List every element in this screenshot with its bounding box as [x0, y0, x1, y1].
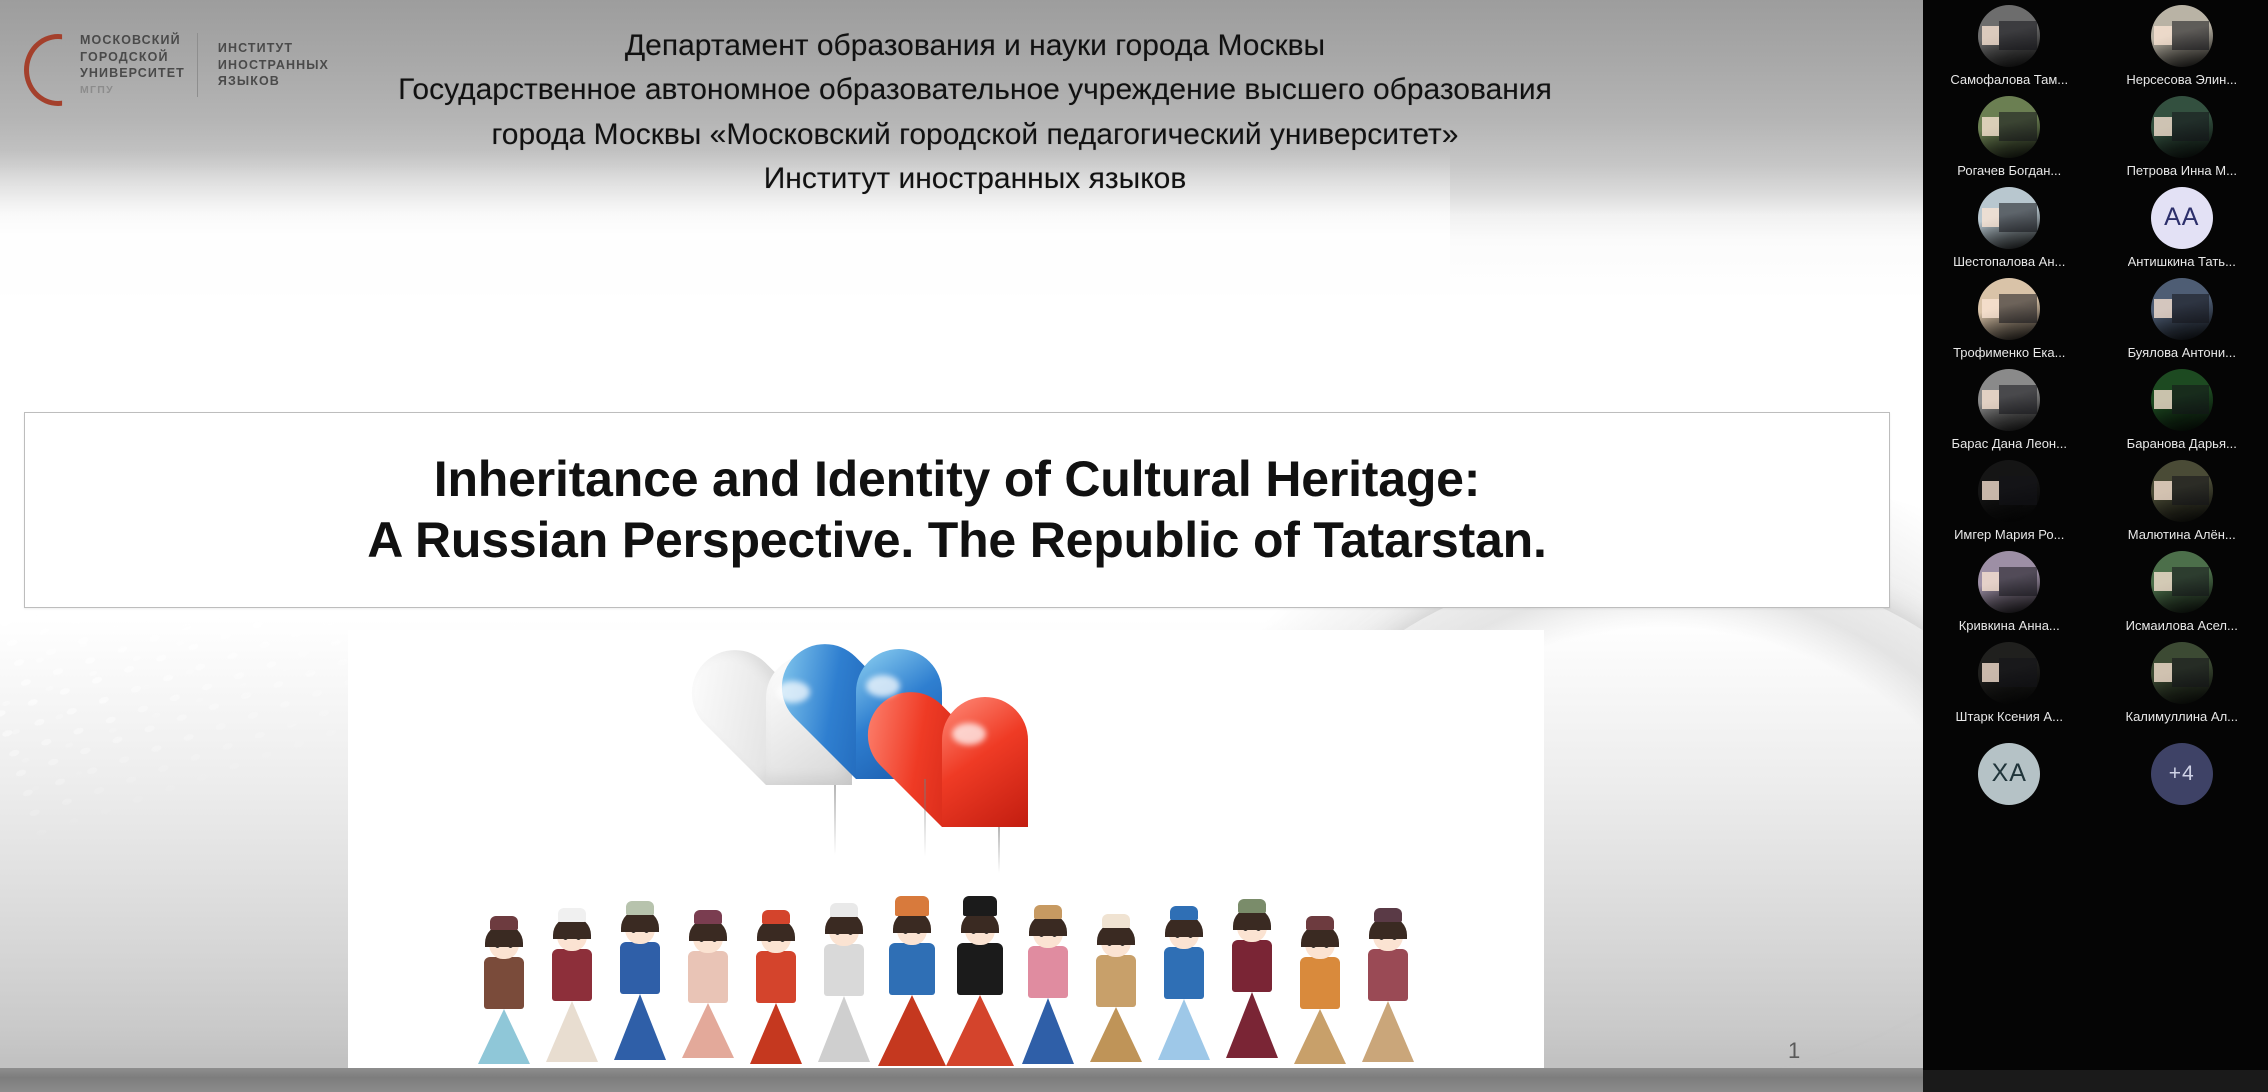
participant-avatar[interactable]: [2151, 278, 2213, 340]
shared-screen-slide[interactable]: МОСКОВСКИЙ ГОРОДСКОЙ УНИВЕРСИТЕТ МГПУ ИН…: [0, 0, 1923, 1092]
logo-line-1: МОСКОВСКИЙ: [80, 32, 185, 49]
doll: [947, 896, 1013, 1066]
avatar-portrait-torso: [2172, 385, 2209, 415]
doll-skirt: [1022, 998, 1074, 1064]
participant-avatar[interactable]: [1978, 278, 2040, 340]
participant-tile[interactable]: Кривкина Анна...: [1923, 546, 2096, 637]
participant-name: Калимуллина Ал...: [2126, 709, 2239, 724]
participant-name: Нерсесова Элин...: [2126, 72, 2237, 87]
slide-header-text: Департамент образования и науки города М…: [330, 24, 1620, 202]
participant-tile[interactable]: Баранова Дарья...: [2096, 364, 2268, 455]
avatar-portrait-silhouette: [2154, 663, 2171, 682]
participant-rail[interactable]: Самофалова Там...Нерсесова Элин...Рогаче…: [1923, 0, 2268, 1092]
avatar-portrait-torso: [2172, 658, 2209, 688]
participant-avatar[interactable]: [1978, 551, 2040, 613]
avatar-portrait-torso: [1999, 567, 2036, 597]
doll-bodice: [957, 943, 1003, 995]
avatar-portrait-torso: [1999, 112, 2036, 142]
doll-headdress: [1034, 905, 1062, 919]
participant-name: Рогачев Богдан...: [1957, 163, 2061, 178]
participant-avatar[interactable]: АА: [2151, 187, 2213, 249]
doll-skirt: [878, 995, 946, 1066]
avatar-portrait-silhouette: [2154, 481, 2171, 500]
participant-tile[interactable]: Шестопалова Ан...: [1923, 182, 2096, 273]
avatar-portrait-silhouette: [1982, 390, 1999, 409]
doll-bodice: [1368, 949, 1408, 1001]
doll-skirt: [546, 1001, 598, 1062]
participant-avatar[interactable]: [2151, 551, 2213, 613]
logo-arc-icon: [18, 32, 66, 98]
shared-presentation-window: МОСКОВСКИЙ ГОРОДСКОЙ УНИВЕРСИТЕТ МГПУ ИН…: [0, 0, 2268, 1092]
participant-name: Антишкина Тать...: [2128, 254, 2236, 269]
doll-skirt: [946, 995, 1014, 1066]
doll-skirt: [1090, 1007, 1142, 1062]
mgpu-logo: МОСКОВСКИЙ ГОРОДСКОЙ УНИВЕРСИТЕТ МГПУ ИН…: [18, 26, 348, 104]
balloon-string-blue: [924, 779, 926, 857]
participant-tile[interactable]: Буялова Антони...: [2096, 273, 2268, 364]
participant-tile[interactable]: Калимуллина Ал...: [2096, 637, 2268, 728]
participant-name: Петрова Инна М...: [2127, 163, 2237, 178]
doll-headdress: [1306, 916, 1334, 930]
doll-bodice: [824, 944, 864, 996]
logo-institute-name: ИНСТИТУТ ИНОСТРАННЫХ ЯЗЫКОВ: [218, 40, 329, 90]
doll-head: [1373, 919, 1403, 951]
avatar-portrait-torso: [1999, 385, 2036, 415]
participant-avatar[interactable]: [1978, 369, 2040, 431]
participant-avatar[interactable]: [1978, 96, 2040, 158]
doll-bodice: [889, 943, 935, 995]
doll: [1151, 906, 1217, 1060]
doll: [743, 910, 809, 1064]
doll-skirt: [818, 996, 870, 1062]
doll: [1355, 908, 1421, 1062]
logo-university-name: МОСКОВСКИЙ ГОРОДСКОЙ УНИВЕРСИТЕТ МГПУ: [80, 32, 185, 97]
doll-bodice: [1096, 955, 1136, 1007]
participant-avatar[interactable]: [2151, 369, 2213, 431]
doll-headdress: [490, 916, 518, 930]
slide-title-box: Inheritance and Identity of Cultural Her…: [24, 412, 1890, 608]
participant-name: Исмаилова Асел...: [2126, 618, 2238, 633]
doll-bodice: [1164, 947, 1204, 999]
doll-headdress: [762, 910, 790, 924]
participant-avatar[interactable]: [2151, 96, 2213, 158]
doll-skirt: [1158, 999, 1210, 1060]
doll-bodice: [620, 942, 660, 994]
participant-tile[interactable]: Исмаилова Асел...: [2096, 546, 2268, 637]
doll-bodice: [756, 951, 796, 1003]
doll-head: [829, 914, 859, 946]
doll-head: [1305, 927, 1335, 959]
participant-tile[interactable]: Нерсесова Элин...: [2096, 0, 2268, 91]
participant-tile[interactable]: Самофалова Там...: [1923, 0, 2096, 91]
avatar-portrait-silhouette: [2154, 26, 2171, 45]
avatar-portrait-torso: [2172, 567, 2209, 597]
logo-right-line-2: ИНОСТРАННЫХ: [218, 57, 329, 74]
participant-avatar[interactable]: [2151, 460, 2213, 522]
doll-bodice: [688, 951, 728, 1003]
participant-tile[interactable]: Петрова Инна М...: [2096, 91, 2268, 182]
participant-name: Кривкина Анна...: [1959, 618, 2060, 633]
participant-avatar[interactable]: ХА: [1978, 743, 2040, 805]
avatar-portrait-torso: [1999, 203, 2036, 233]
doll-head: [1101, 925, 1131, 957]
doll: [1287, 916, 1353, 1064]
avatar-portrait-torso: [1999, 476, 2036, 506]
participant-overflow-badge[interactable]: +4: [2151, 743, 2213, 805]
doll-skirt: [750, 1003, 802, 1064]
doll-head: [693, 921, 723, 953]
doll-bodice: [552, 949, 592, 1001]
avatar-portrait-torso: [1999, 21, 2036, 51]
doll-skirt: [1294, 1009, 1346, 1064]
doll-head: [489, 927, 519, 959]
avatar-portrait-torso: [1999, 658, 2036, 688]
doll-headdress: [830, 903, 858, 917]
doll-bodice: [484, 957, 524, 1009]
participant-avatar[interactable]: [1978, 5, 2040, 67]
slide-illustration: [348, 630, 1544, 1068]
participant-tile[interactable]: Рогачев Богдан...: [1923, 91, 2096, 182]
participant-tile[interactable]: Имгер Мария Ро...: [1923, 455, 2096, 546]
avatar-portrait-torso: [2172, 476, 2209, 506]
doll-headdress: [963, 896, 997, 916]
avatar-portrait-silhouette: [2154, 117, 2171, 136]
doll: [471, 916, 537, 1064]
header-line-1: Департамент образования и науки города М…: [330, 24, 1620, 68]
participant-grid: Самофалова Там...Нерсесова Элин...Рогаче…: [1923, 0, 2268, 819]
doll-skirt: [478, 1009, 530, 1064]
header-line-3: города Москвы «Московский городской педа…: [330, 113, 1620, 157]
doll: [879, 896, 945, 1066]
logo-line-3: УНИВЕРСИТЕТ: [80, 65, 185, 82]
avatar-portrait-silhouette: [2154, 572, 2171, 591]
doll-headdress: [626, 901, 654, 915]
avatar-portrait-torso: [1999, 294, 2036, 324]
participant-avatar[interactable]: [1978, 187, 2040, 249]
logo-abbrev: МГПУ: [80, 84, 185, 98]
doll-head: [1237, 910, 1267, 942]
participant-name: Малютина Алён...: [2128, 527, 2236, 542]
doll-headdress: [1374, 908, 1402, 922]
doll: [1219, 899, 1285, 1058]
avatar-portrait-torso: [2172, 294, 2209, 324]
participant-name: Самофалова Там...: [1950, 72, 2068, 87]
participant-tile[interactable]: Барас Дана Леон...: [1923, 364, 2096, 455]
avatar-portrait-silhouette: [1982, 117, 1999, 136]
doll-bodice: [1028, 946, 1068, 998]
participant-avatar[interactable]: [2151, 5, 2213, 67]
doll-head: [761, 921, 791, 953]
doll-headdress: [1102, 914, 1130, 928]
header-line-4: Институт иностранных языков: [330, 157, 1620, 201]
participant-tile[interactable]: Штарк Ксения А...: [1923, 637, 2096, 728]
doll: [1083, 914, 1149, 1062]
doll-bodice: [1232, 940, 1272, 992]
rail-bottom-bar: [1923, 1070, 2268, 1092]
participant-name: Баранова Дарья...: [2127, 436, 2237, 451]
participant-avatar[interactable]: [1978, 642, 2040, 704]
avatar-portrait-silhouette: [1982, 299, 1999, 318]
participant-avatar[interactable]: [1978, 460, 2040, 522]
avatar-portrait-silhouette: [1982, 572, 1999, 591]
doll-headdress: [694, 910, 722, 924]
doll-headdress: [1170, 906, 1198, 920]
doll-head: [965, 913, 995, 945]
participant-tile[interactable]: +4: [2096, 728, 2268, 819]
balloon-string-white: [834, 785, 836, 855]
participant-tile[interactable]: Трофименко Ека...: [1923, 273, 2096, 364]
doll: [607, 901, 673, 1060]
doll-headdress: [1238, 899, 1266, 913]
participant-name: Шестопалова Ан...: [1953, 254, 2065, 269]
logo-line-2: ГОРОДСКОЙ: [80, 49, 185, 66]
avatar-portrait-torso: [2172, 21, 2209, 51]
doll-skirt: [614, 994, 666, 1060]
participant-name: Штарк Ксения А...: [1956, 709, 2063, 724]
avatar-portrait-silhouette: [1982, 481, 1999, 500]
logo-right-line-3: ЯЗЫКОВ: [218, 73, 329, 90]
doll-skirt: [1362, 1001, 1414, 1062]
slide-title-line-2: A Russian Perspective. The Republic of T…: [367, 510, 1546, 571]
heart-balloons-icon: [728, 645, 1148, 875]
avatar-portrait-torso: [2172, 112, 2209, 142]
slide-title-line-1: Inheritance and Identity of Cultural Her…: [434, 449, 1481, 510]
participant-tile[interactable]: ХА: [1923, 728, 2096, 819]
header-line-2: Государственное автономное образовательн…: [330, 68, 1620, 112]
participant-avatar[interactable]: [2151, 642, 2213, 704]
slide-bottom-edge: [0, 1068, 1923, 1092]
avatar-portrait-silhouette: [2154, 299, 2171, 318]
participant-tile[interactable]: АААнтишкина Тать...: [2096, 182, 2268, 273]
doll: [675, 910, 741, 1058]
participant-name: Имгер Мария Ро...: [1954, 527, 2064, 542]
doll-skirt: [1226, 992, 1278, 1058]
doll-head: [625, 912, 655, 944]
overflow-count-label: +4: [2169, 762, 2195, 786]
doll-headdress: [895, 896, 929, 916]
doll-bodice: [1300, 957, 1340, 1009]
doll: [1015, 905, 1081, 1064]
avatar-portrait-silhouette: [1982, 663, 1999, 682]
avatar-portrait-silhouette: [1982, 208, 1999, 227]
participant-name: Барас Дана Леон...: [1952, 436, 2067, 451]
doll: [539, 908, 605, 1062]
doll-head: [1033, 916, 1063, 948]
slide-page-number: 1: [1788, 1038, 1800, 1064]
participant-tile[interactable]: Малютина Алён...: [2096, 455, 2268, 546]
participant-name: Буялова Антони...: [2128, 345, 2236, 360]
doll-head: [1169, 917, 1199, 949]
balloon-red: [910, 697, 1060, 839]
doll: [811, 903, 877, 1062]
traditional-costume-dolls: [348, 871, 1544, 1066]
doll-head: [557, 919, 587, 951]
doll-head: [897, 913, 927, 945]
participant-name: Трофименко Ека...: [1953, 345, 2065, 360]
logo-divider: [197, 33, 198, 97]
avatar-initials: АА: [2164, 203, 2199, 232]
logo-right-line-1: ИНСТИТУТ: [218, 40, 329, 57]
avatar-portrait-silhouette: [1982, 26, 1999, 45]
balloon-string-red: [998, 827, 1000, 873]
doll-skirt: [682, 1003, 734, 1058]
avatar-portrait-silhouette: [2154, 390, 2171, 409]
avatar-initials: ХА: [1992, 759, 2027, 788]
doll-headdress: [558, 908, 586, 922]
